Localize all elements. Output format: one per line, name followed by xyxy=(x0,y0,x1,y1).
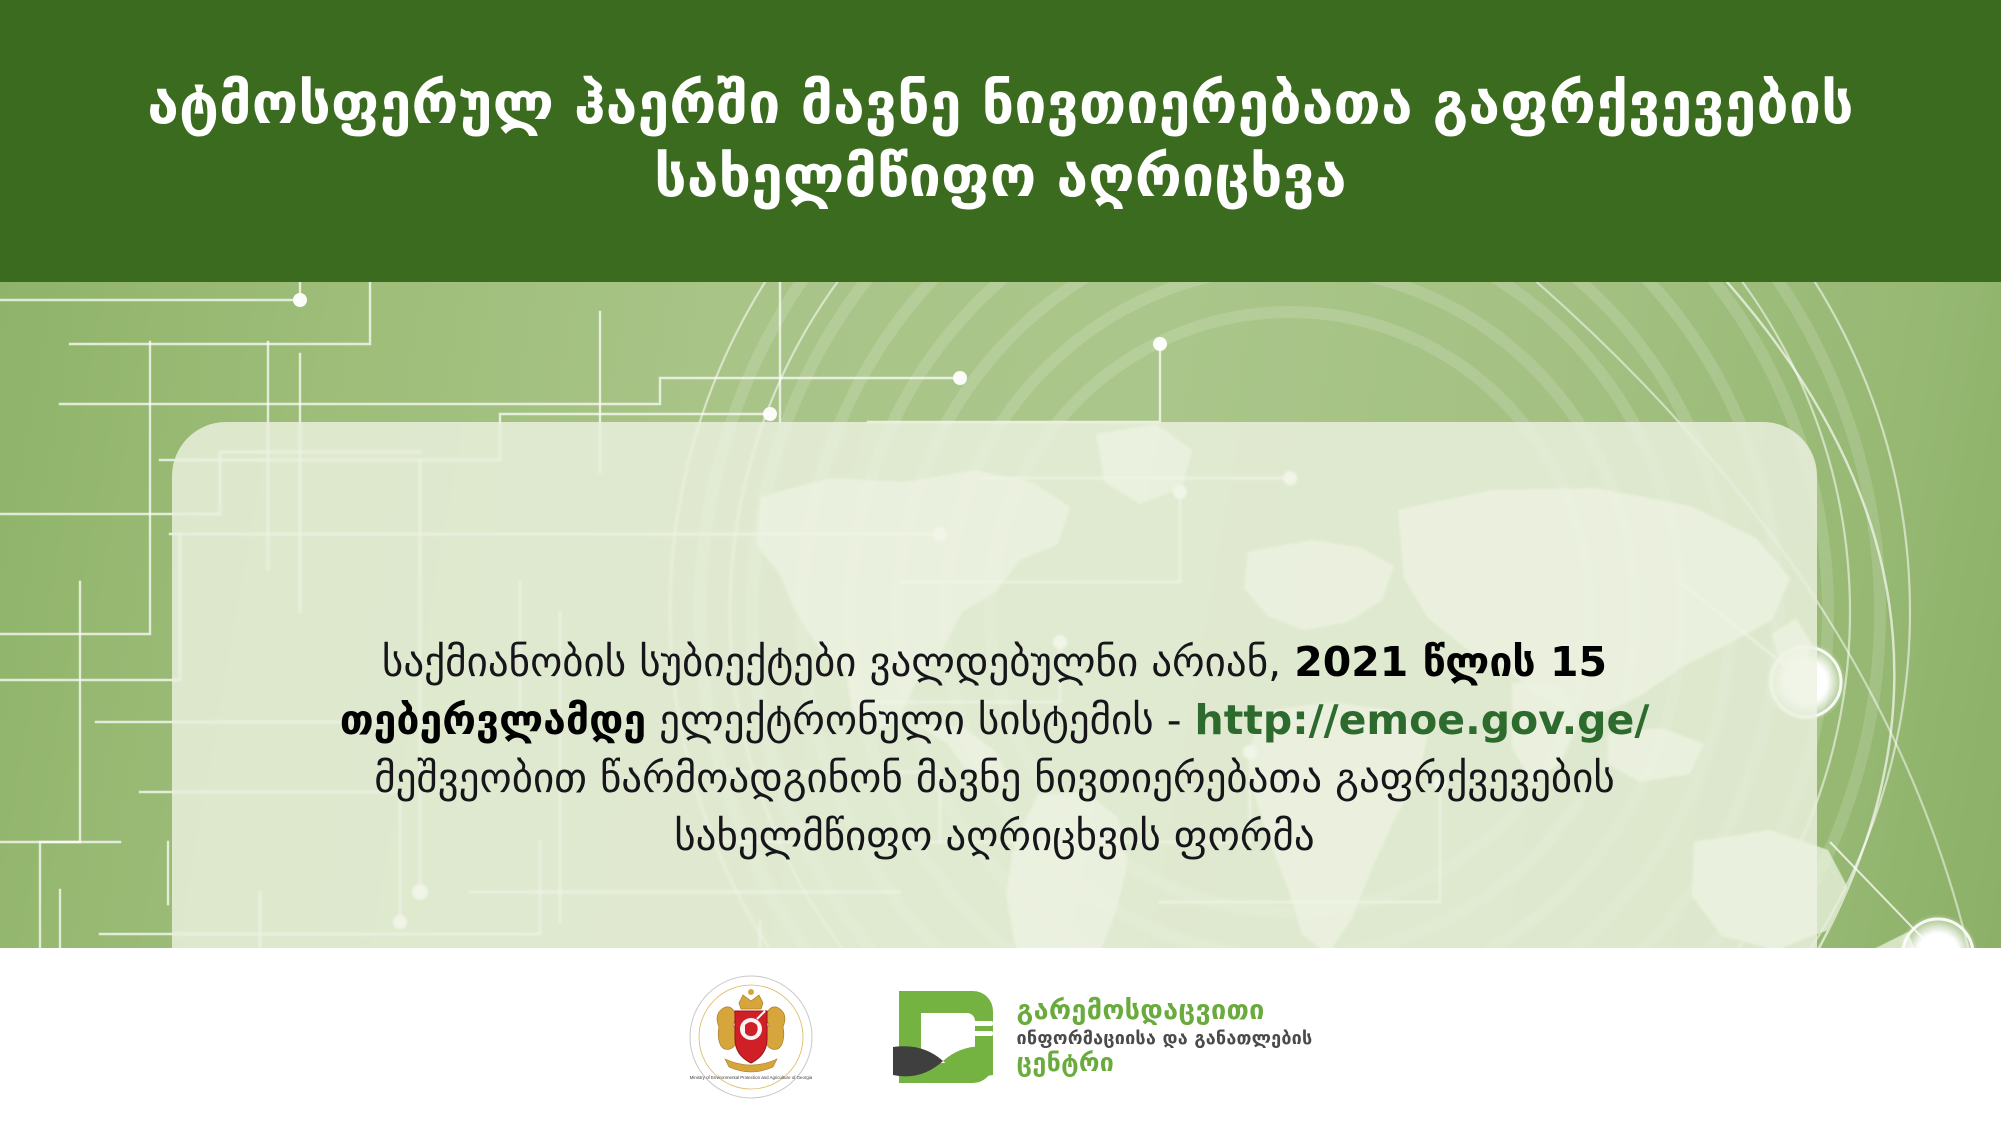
card-line-1-text: საქმიანობის სუბიექტები ვალდებულნი არიან, xyxy=(382,638,1294,686)
card-line-2-deadline-bold: თებერვლამდე xyxy=(340,696,646,744)
eiec-name-line-1: გარემოსდაცვითი xyxy=(1017,997,1313,1026)
ministry-emblem-icon: Ministry of Environmental Protection and… xyxy=(689,975,813,1099)
announcement-banner: ატმოსფერულ ჰაერში მავნე ნივთიერებათა გაფ… xyxy=(0,0,2001,1125)
page-title-line-2: სახელმწიფო აღრიცხვა xyxy=(654,144,1346,211)
ministry-emblem-logo: Ministry of Environmental Protection and… xyxy=(689,975,813,1099)
footer-band: Ministry of Environmental Protection and… xyxy=(0,948,2001,1125)
emoe-portal-link[interactable]: http://emoe.gov.ge/ xyxy=(1195,696,1650,744)
eiec-logo-text: გარემოსდაცვითი ინფორმაციისა და განათლები… xyxy=(1017,997,1313,1076)
card-line-2-text: ელექტრონული სისტემის - xyxy=(646,696,1194,744)
card-line-1: საქმიანობის სუბიექტები ვალდებულნი არიან,… xyxy=(382,633,1607,691)
eiec-name-line-2: ინფორმაციისა და განათლების xyxy=(1017,1029,1313,1048)
page-title-line-1: ატმოსფერულ ჰაერში მავნე ნივთიერებათა გაფ… xyxy=(147,71,1853,138)
eiec-open-book-icon xyxy=(887,985,1005,1089)
card-line-1-date-bold: 2021 წლის 15 xyxy=(1294,638,1607,686)
eiec-name-line-3: ცენტრი xyxy=(1017,1050,1313,1077)
card-line-3: მეშვეობით წარმოადგინონ მავნე ნივთიერებათ… xyxy=(374,749,1615,807)
card-line-2: თებერვლამდე ელექტრონული სისტემის - http:… xyxy=(340,691,1650,749)
announcement-card-text: საქმიანობის სუბიექტები ვალდებულნი არიან,… xyxy=(172,422,1817,948)
header-band: ატმოსფერულ ჰაერში მავნე ნივთიერებათა გაფ… xyxy=(0,0,2001,282)
body-background-band: საქმიანობის სუბიექტები ვალდებულნი არიან,… xyxy=(0,282,2001,948)
eiec-logo: გარემოსდაცვითი ინფორმაციისა და განათლები… xyxy=(887,985,1313,1089)
ministry-emblem-caption-en: Ministry of Environmental Protection and… xyxy=(689,1075,812,1080)
card-line-4: სახელმწიფო აღრიცხვის ფორმა xyxy=(674,807,1314,865)
